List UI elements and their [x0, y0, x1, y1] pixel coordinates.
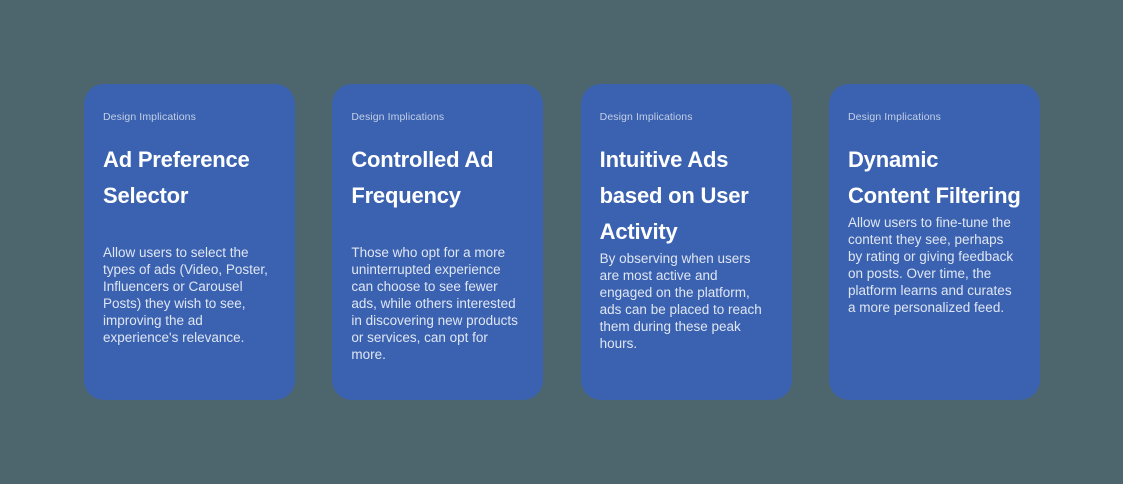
- card-title: Controlled Ad Frequency: [351, 142, 524, 214]
- design-implication-card[interactable]: Design Implications Controlled Ad Freque…: [332, 84, 543, 400]
- card-eyebrow-label: Design Implications: [848, 110, 1021, 124]
- card-body-text: Those who opt for a more uninterrupted e…: [351, 214, 524, 363]
- design-implication-card[interactable]: Design Implications Ad Preference Select…: [84, 84, 295, 400]
- card-eyebrow-label: Design Implications: [600, 110, 773, 124]
- card-title: Dynamic Content Filtering: [848, 142, 1021, 214]
- design-implications-board: Design Implications Ad Preference Select…: [0, 0, 1123, 484]
- card-eyebrow-label: Design Implications: [103, 110, 276, 124]
- card-body-text: Allow users to select the types of ads (…: [103, 214, 276, 346]
- card-eyebrow-label: Design Implications: [351, 110, 524, 124]
- card-row: Design Implications Ad Preference Select…: [84, 84, 1040, 400]
- design-implication-card[interactable]: Design Implications Dynamic Content Filt…: [829, 84, 1040, 400]
- card-title: Ad Preference Selector: [103, 142, 276, 214]
- design-implication-card[interactable]: Design Implications Intuitive Ads based …: [581, 84, 792, 400]
- card-body-text: By observing when users are most active …: [600, 250, 773, 352]
- card-title: Intuitive Ads based on User Activity: [600, 142, 773, 250]
- card-body-text: Allow users to fine-tune the content the…: [848, 214, 1021, 316]
